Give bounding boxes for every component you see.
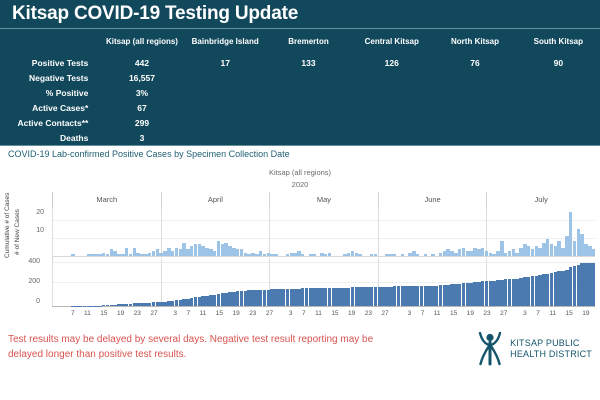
y-axis-label-new-cases: # of New Cases <box>14 208 21 256</box>
chart-bar <box>416 254 419 256</box>
person-figure-icon <box>475 332 505 366</box>
chart-panel: COVID-19 Lab-confirmed Positive Cases by… <box>0 146 600 328</box>
table-cell <box>184 70 267 85</box>
row-label: Deaths <box>0 130 100 145</box>
y-axis-label-cumulative: Cumulative # of Cases <box>4 208 11 258</box>
chart-bar <box>401 254 404 256</box>
table-cell <box>267 130 350 145</box>
chart-panel-cumulative <box>52 258 595 307</box>
x-tick-label: 11 <box>84 307 91 321</box>
table-cell <box>433 70 516 85</box>
page-header: Kitsap COVID-19 Testing Update <box>0 0 600 28</box>
chart-bar <box>393 254 396 256</box>
logo-line-1: KITSAP PUBLIC <box>510 338 592 349</box>
new-cases-bars <box>52 208 595 256</box>
table-cell <box>267 115 350 130</box>
table-cell <box>267 100 350 115</box>
chart-subtitle-region: Kitsap (all regions) <box>0 168 600 177</box>
x-tick-label: 19 <box>348 307 355 321</box>
chart-bar <box>312 254 315 256</box>
column-header-blank <box>0 29 100 55</box>
x-tick-label: 19 <box>582 307 589 321</box>
table-cell <box>433 115 516 130</box>
table-cell <box>433 100 516 115</box>
x-tick-label: 15 <box>100 307 107 321</box>
page-title: Kitsap COVID-19 Testing Update <box>12 3 298 25</box>
stats-table: Kitsap (all regions) Bainbridge Island B… <box>0 29 600 145</box>
stats-table-wrap: Kitsap (all regions) Bainbridge Island B… <box>0 29 600 146</box>
x-tick-label: 27 <box>150 307 157 321</box>
stats-table-head: Kitsap (all regions) Bainbridge Island B… <box>0 29 600 55</box>
slide-root: Kitsap COVID-19 Testing Update Kitsap (a… <box>0 0 600 400</box>
table-cell: 3% <box>100 85 183 100</box>
row-label: Active Contacts** <box>0 115 100 130</box>
table-cell: 76 <box>433 55 516 70</box>
table-cell <box>350 85 433 100</box>
x-tick-label: 27 <box>381 307 388 321</box>
column-header-central-kitsap: Central Kitsap <box>350 29 433 55</box>
month-label: May <box>269 192 378 208</box>
table-cell: 16,557 <box>100 70 183 85</box>
table-cell <box>184 115 267 130</box>
x-tick-label: 27 <box>266 307 273 321</box>
chart-bar <box>301 254 304 256</box>
table-cell <box>517 130 600 145</box>
x-tick-label: 15 <box>331 307 338 321</box>
table-cell <box>184 130 267 145</box>
cumulative-cases-bars <box>52 258 595 306</box>
table-cell <box>350 70 433 85</box>
chart-subtitle-year: 2020 <box>0 180 600 189</box>
x-tick-label: 19 <box>117 307 124 321</box>
month-label: April <box>161 192 270 208</box>
table-row: Active Cases*67 <box>0 100 600 115</box>
table-cell <box>350 100 433 115</box>
kitsap-health-district-logo: KITSAP PUBLIC HEALTH DISTRICT <box>475 332 592 366</box>
x-tick-label: 15 <box>450 307 457 321</box>
disclaimer-text: Test results may be delayed by several d… <box>8 332 388 362</box>
chart-bar <box>431 254 434 256</box>
table-row: % Positive3% <box>0 85 600 100</box>
table-cell <box>184 100 267 115</box>
x-tick-label: . <box>593 307 596 321</box>
table-cell <box>350 130 433 145</box>
month-label: July <box>486 192 595 208</box>
x-tick-label: 23 <box>365 307 372 321</box>
x-tick-label: 11 <box>549 307 556 321</box>
table-row: Positive Tests442171331267690 <box>0 55 600 70</box>
table-cell: 3 <box>100 130 183 145</box>
table-cell <box>517 70 600 85</box>
row-label: Active Cases* <box>0 100 100 115</box>
table-cell <box>267 85 350 100</box>
y-tick-cum-0: 0 <box>14 298 40 305</box>
table-cell <box>433 85 516 100</box>
table-cell: 442 <box>100 55 183 70</box>
x-tick-label: 27 <box>500 307 507 321</box>
table-cell <box>517 100 600 115</box>
chart-month-axis: MarchAprilMayJuneJuly <box>52 192 595 208</box>
table-row: Active Contacts**299 <box>0 115 600 130</box>
y-tick-cum-200: 200 <box>14 278 40 285</box>
table-cell: 90 <box>517 55 600 70</box>
table-cell: 17 <box>184 55 267 70</box>
chart-bar <box>592 249 595 256</box>
chart-bar <box>71 254 74 256</box>
stats-table-body: Positive Tests442171331267690Negative Te… <box>0 55 600 145</box>
x-tick-label: 11 <box>200 307 207 321</box>
chart-bar <box>374 254 377 256</box>
chart-bar <box>424 254 427 256</box>
x-tick-label: 11 <box>315 307 322 321</box>
chart-panel-new-cases <box>52 208 595 257</box>
chart-bar <box>592 263 595 306</box>
table-cell: 133 <box>267 55 350 70</box>
chart-bar <box>358 254 361 256</box>
chart-bar <box>274 254 277 256</box>
x-tick-label: 23 <box>483 307 490 321</box>
table-cell <box>267 70 350 85</box>
table-cell: 67 <box>100 100 183 115</box>
table-cell <box>517 85 600 100</box>
table-row: Negative Tests16,557 <box>0 70 600 85</box>
table-cell <box>350 115 433 130</box>
chart-x-axis-ticks: ......7...11...15...19...23...27.....3..… <box>52 307 595 321</box>
table-cell: 299 <box>100 115 183 130</box>
x-tick-label: 23 <box>249 307 256 321</box>
column-header-bremerton: Bremerton <box>267 29 350 55</box>
table-cell <box>433 130 516 145</box>
row-label: Positive Tests <box>0 55 100 70</box>
y-tick-new-20: 20 <box>18 209 44 216</box>
x-tick-label: 19 <box>467 307 474 321</box>
month-label: June <box>378 192 487 208</box>
column-header-bainbridge-island: Bainbridge Island <box>184 29 267 55</box>
x-tick-label: 11 <box>434 307 441 321</box>
stats-header-row: Kitsap (all regions) Bainbridge Island B… <box>0 29 600 55</box>
month-label: March <box>52 192 161 208</box>
table-cell: 126 <box>350 55 433 70</box>
row-label: Negative Tests <box>0 70 100 85</box>
chart-title: COVID-19 Lab-confirmed Positive Cases by… <box>8 149 290 159</box>
column-header-south-kitsap: South Kitsap <box>517 29 600 55</box>
table-cell <box>517 115 600 130</box>
table-cell <box>184 85 267 100</box>
column-header-north-kitsap: North Kitsap <box>433 29 516 55</box>
x-tick-label: 19 <box>232 307 239 321</box>
x-tick-label: 23 <box>134 307 141 321</box>
row-label: % Positive <box>0 85 100 100</box>
logo-text: KITSAP PUBLIC HEALTH DISTRICT <box>510 338 592 361</box>
table-row: Deaths3 <box>0 130 600 145</box>
page-footer: Test results may be delayed by several d… <box>0 328 600 372</box>
x-tick-label: 15 <box>566 307 573 321</box>
chart-bar <box>328 253 331 256</box>
y-tick-new-10: 10 <box>18 227 44 234</box>
x-tick-label: 15 <box>216 307 223 321</box>
logo-line-2: HEALTH DISTRICT <box>510 349 592 360</box>
y-tick-cum-400: 400 <box>14 258 40 265</box>
column-header-kitsap-all: Kitsap (all regions) <box>100 29 183 55</box>
